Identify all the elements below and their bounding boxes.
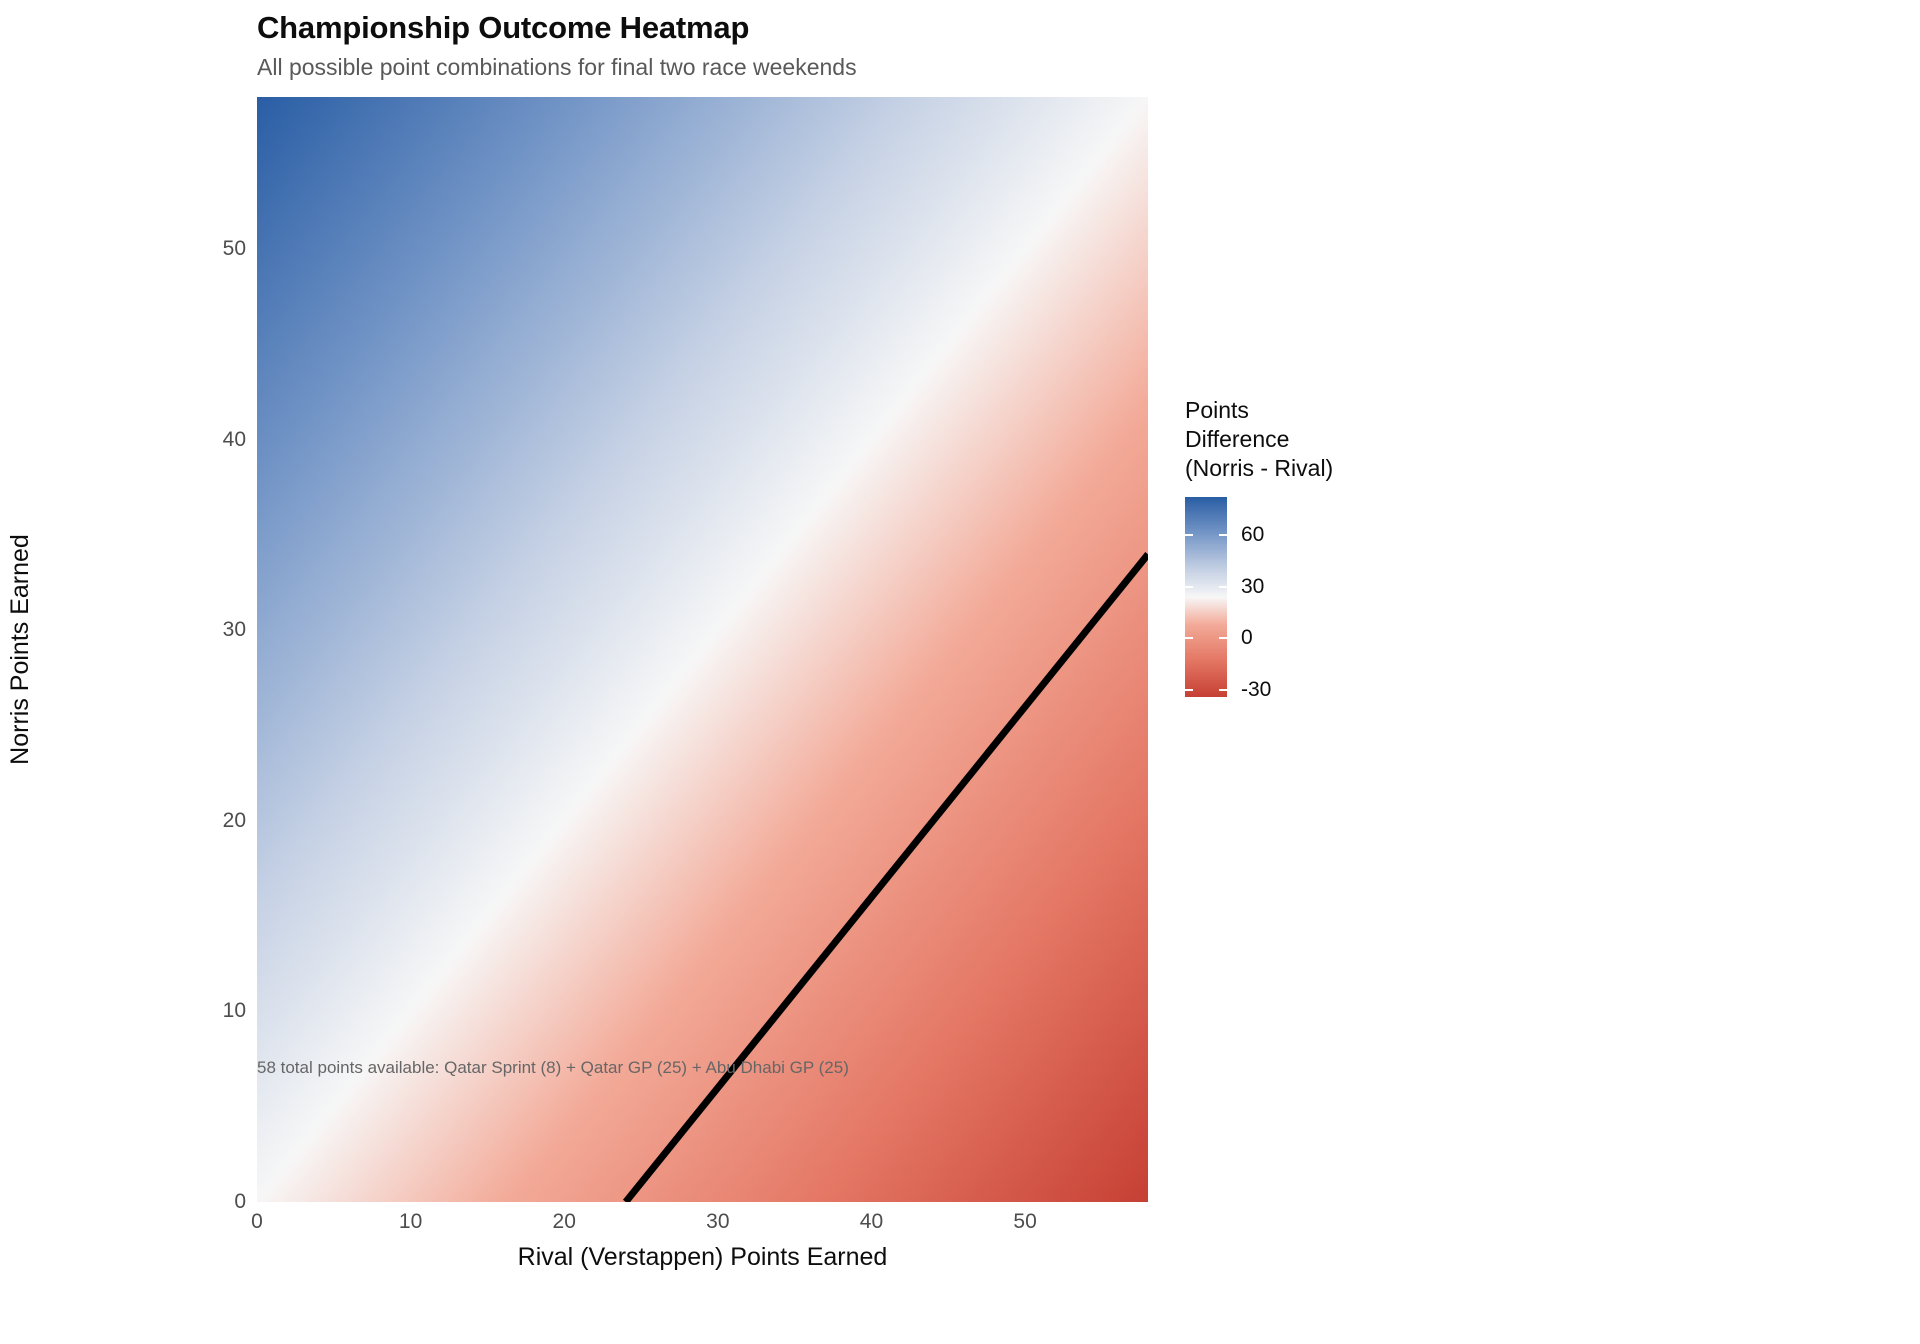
legend-body: 60300-30 — [1185, 497, 1445, 697]
legend-tick-label--30: -30 — [1241, 678, 1271, 702]
legend-tick-mark-30 — [1185, 586, 1193, 588]
y-tick-label-40: 40 — [246, 428, 269, 452]
page-title: Championship Outcome Heatmap — [257, 10, 749, 46]
legend-tick-label-60: 60 — [1241, 523, 1264, 547]
y-tick-label-text: 40 — [223, 428, 246, 452]
legend-tick-label-0: 0 — [1241, 626, 1253, 650]
legend-tick-label-30: 30 — [1241, 575, 1264, 599]
legend-title-line-3: (Norris - Rival) — [1185, 454, 1445, 483]
y-tick-label-20: 20 — [246, 809, 269, 833]
legend-tick-mark-60 — [1219, 534, 1227, 536]
x-tick-label-40: 40 — [860, 1210, 883, 1234]
legend: Points Difference (Norris - Rival) 60300… — [1185, 396, 1445, 697]
threshold-line-layer — [257, 97, 1148, 1202]
legend-tick-mark-0 — [1185, 637, 1193, 639]
page-subtitle: All possible point combinations for fina… — [257, 54, 857, 81]
heatmap-panel — [257, 97, 1148, 1202]
y-axis-title-text: Norris Points Earned — [6, 534, 35, 765]
y-tick-label-30: 30 — [246, 618, 269, 642]
x-tick-label-10: 10 — [399, 1210, 422, 1234]
y-tick-label-text: 30 — [223, 618, 246, 642]
x-tick-label-50: 50 — [1013, 1210, 1036, 1234]
legend-tick-mark--30 — [1185, 689, 1193, 691]
championship-threshold-line — [626, 554, 1148, 1202]
x-axis-title: Rival (Verstappen) Points Earned — [257, 1243, 1148, 1272]
y-tick-label-text: 20 — [223, 809, 246, 833]
y-tick-label-10: 10 — [246, 999, 269, 1023]
legend-tick-mark-30 — [1219, 586, 1227, 588]
y-tick-label-text: 0 — [234, 1190, 246, 1214]
y-tick-label-text: 50 — [223, 237, 246, 261]
y-tick-label-50: 50 — [246, 237, 269, 261]
legend-colorbar-canvas — [1185, 497, 1227, 697]
legend-title-line-2: Difference — [1185, 425, 1445, 454]
legend-title-line-1: Points — [1185, 396, 1445, 425]
y-tick-label-text: 10 — [223, 999, 246, 1023]
footer-caption: 58 total points available: Qatar Sprint … — [257, 1058, 849, 1078]
legend-tick-mark-0 — [1219, 637, 1227, 639]
legend-title: Points Difference (Norris - Rival) — [1185, 396, 1445, 483]
legend-tick-mark--30 — [1219, 689, 1227, 691]
chart-root: Championship Outcome Heatmap All possibl… — [0, 0, 1920, 1344]
legend-colorbar — [1185, 497, 1227, 697]
x-tick-label-20: 20 — [553, 1210, 576, 1234]
y-tick-label-0: 0 — [246, 1190, 258, 1214]
x-tick-label-30: 30 — [706, 1210, 729, 1234]
legend-tick-mark-60 — [1185, 534, 1193, 536]
y-axis-title: Norris Points Earned — [0, 97, 40, 1202]
